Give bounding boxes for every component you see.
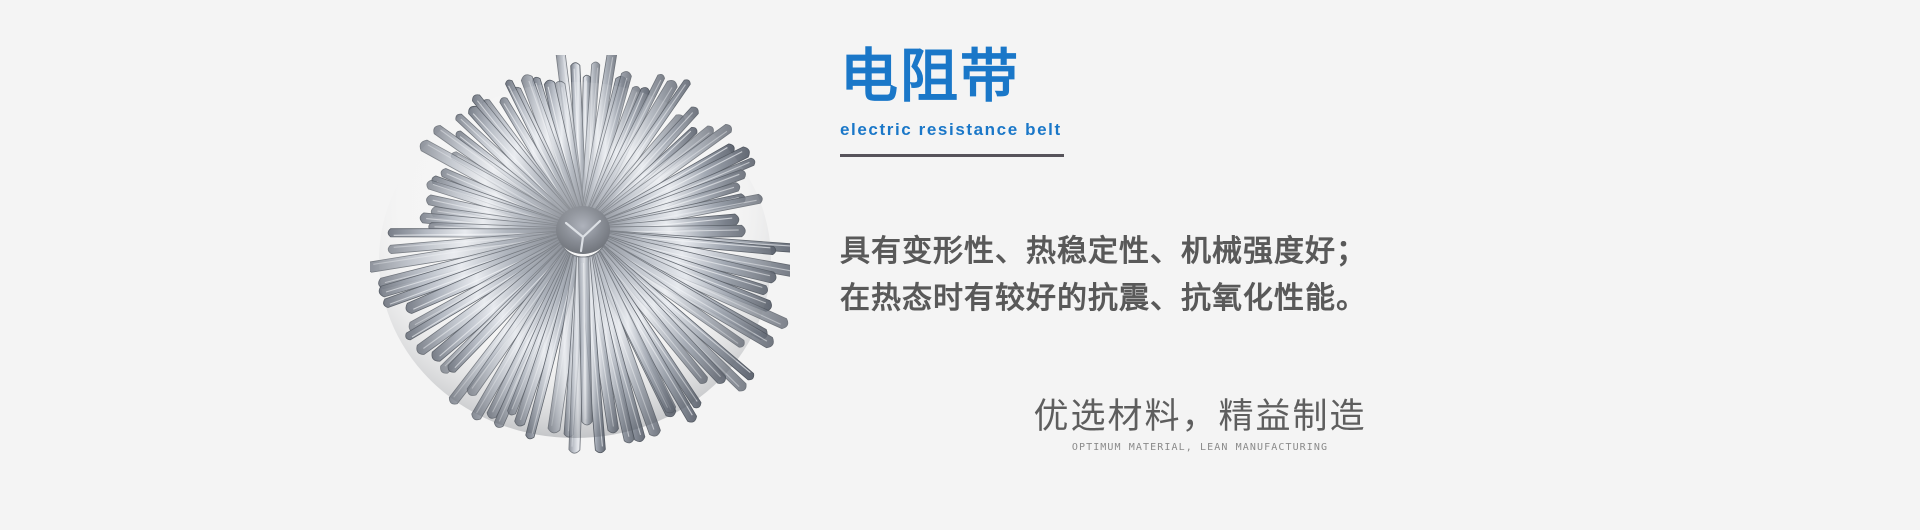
- slogan-english: OPTIMUM MATERIAL, LEAN MANUFACTURING: [940, 442, 1460, 453]
- description-line-1: 具有变形性、热稳定性、机械强度好；: [840, 228, 1540, 275]
- slogan-block: 优选材料，精益制造 OPTIMUM MATERIAL, LEAN MANUFAC…: [940, 398, 1460, 453]
- body-shading: [379, 82, 771, 438]
- description-line-2: 在热态时有较好的抗震、抗氧化性能。: [840, 275, 1540, 322]
- page-subtitle: electric resistance belt: [840, 120, 1440, 140]
- resistance-belt-illustration: [370, 55, 790, 475]
- title-block: 电阻带 electric resistance belt: [840, 48, 1440, 157]
- product-banner: 电阻带 electric resistance belt 具有变形性、热稳定性、…: [0, 0, 1920, 530]
- page-title: 电阻带: [840, 48, 1440, 106]
- title-divider: [840, 154, 1064, 157]
- product-image: [370, 55, 790, 475]
- text-column: 电阻带 electric resistance belt 具有变形性、热稳定性、…: [840, 0, 1840, 530]
- description-block: 具有变形性、热稳定性、机械强度好； 在热态时有较好的抗震、抗氧化性能。: [840, 228, 1540, 322]
- slogan-chinese: 优选材料，精益制造: [940, 398, 1460, 437]
